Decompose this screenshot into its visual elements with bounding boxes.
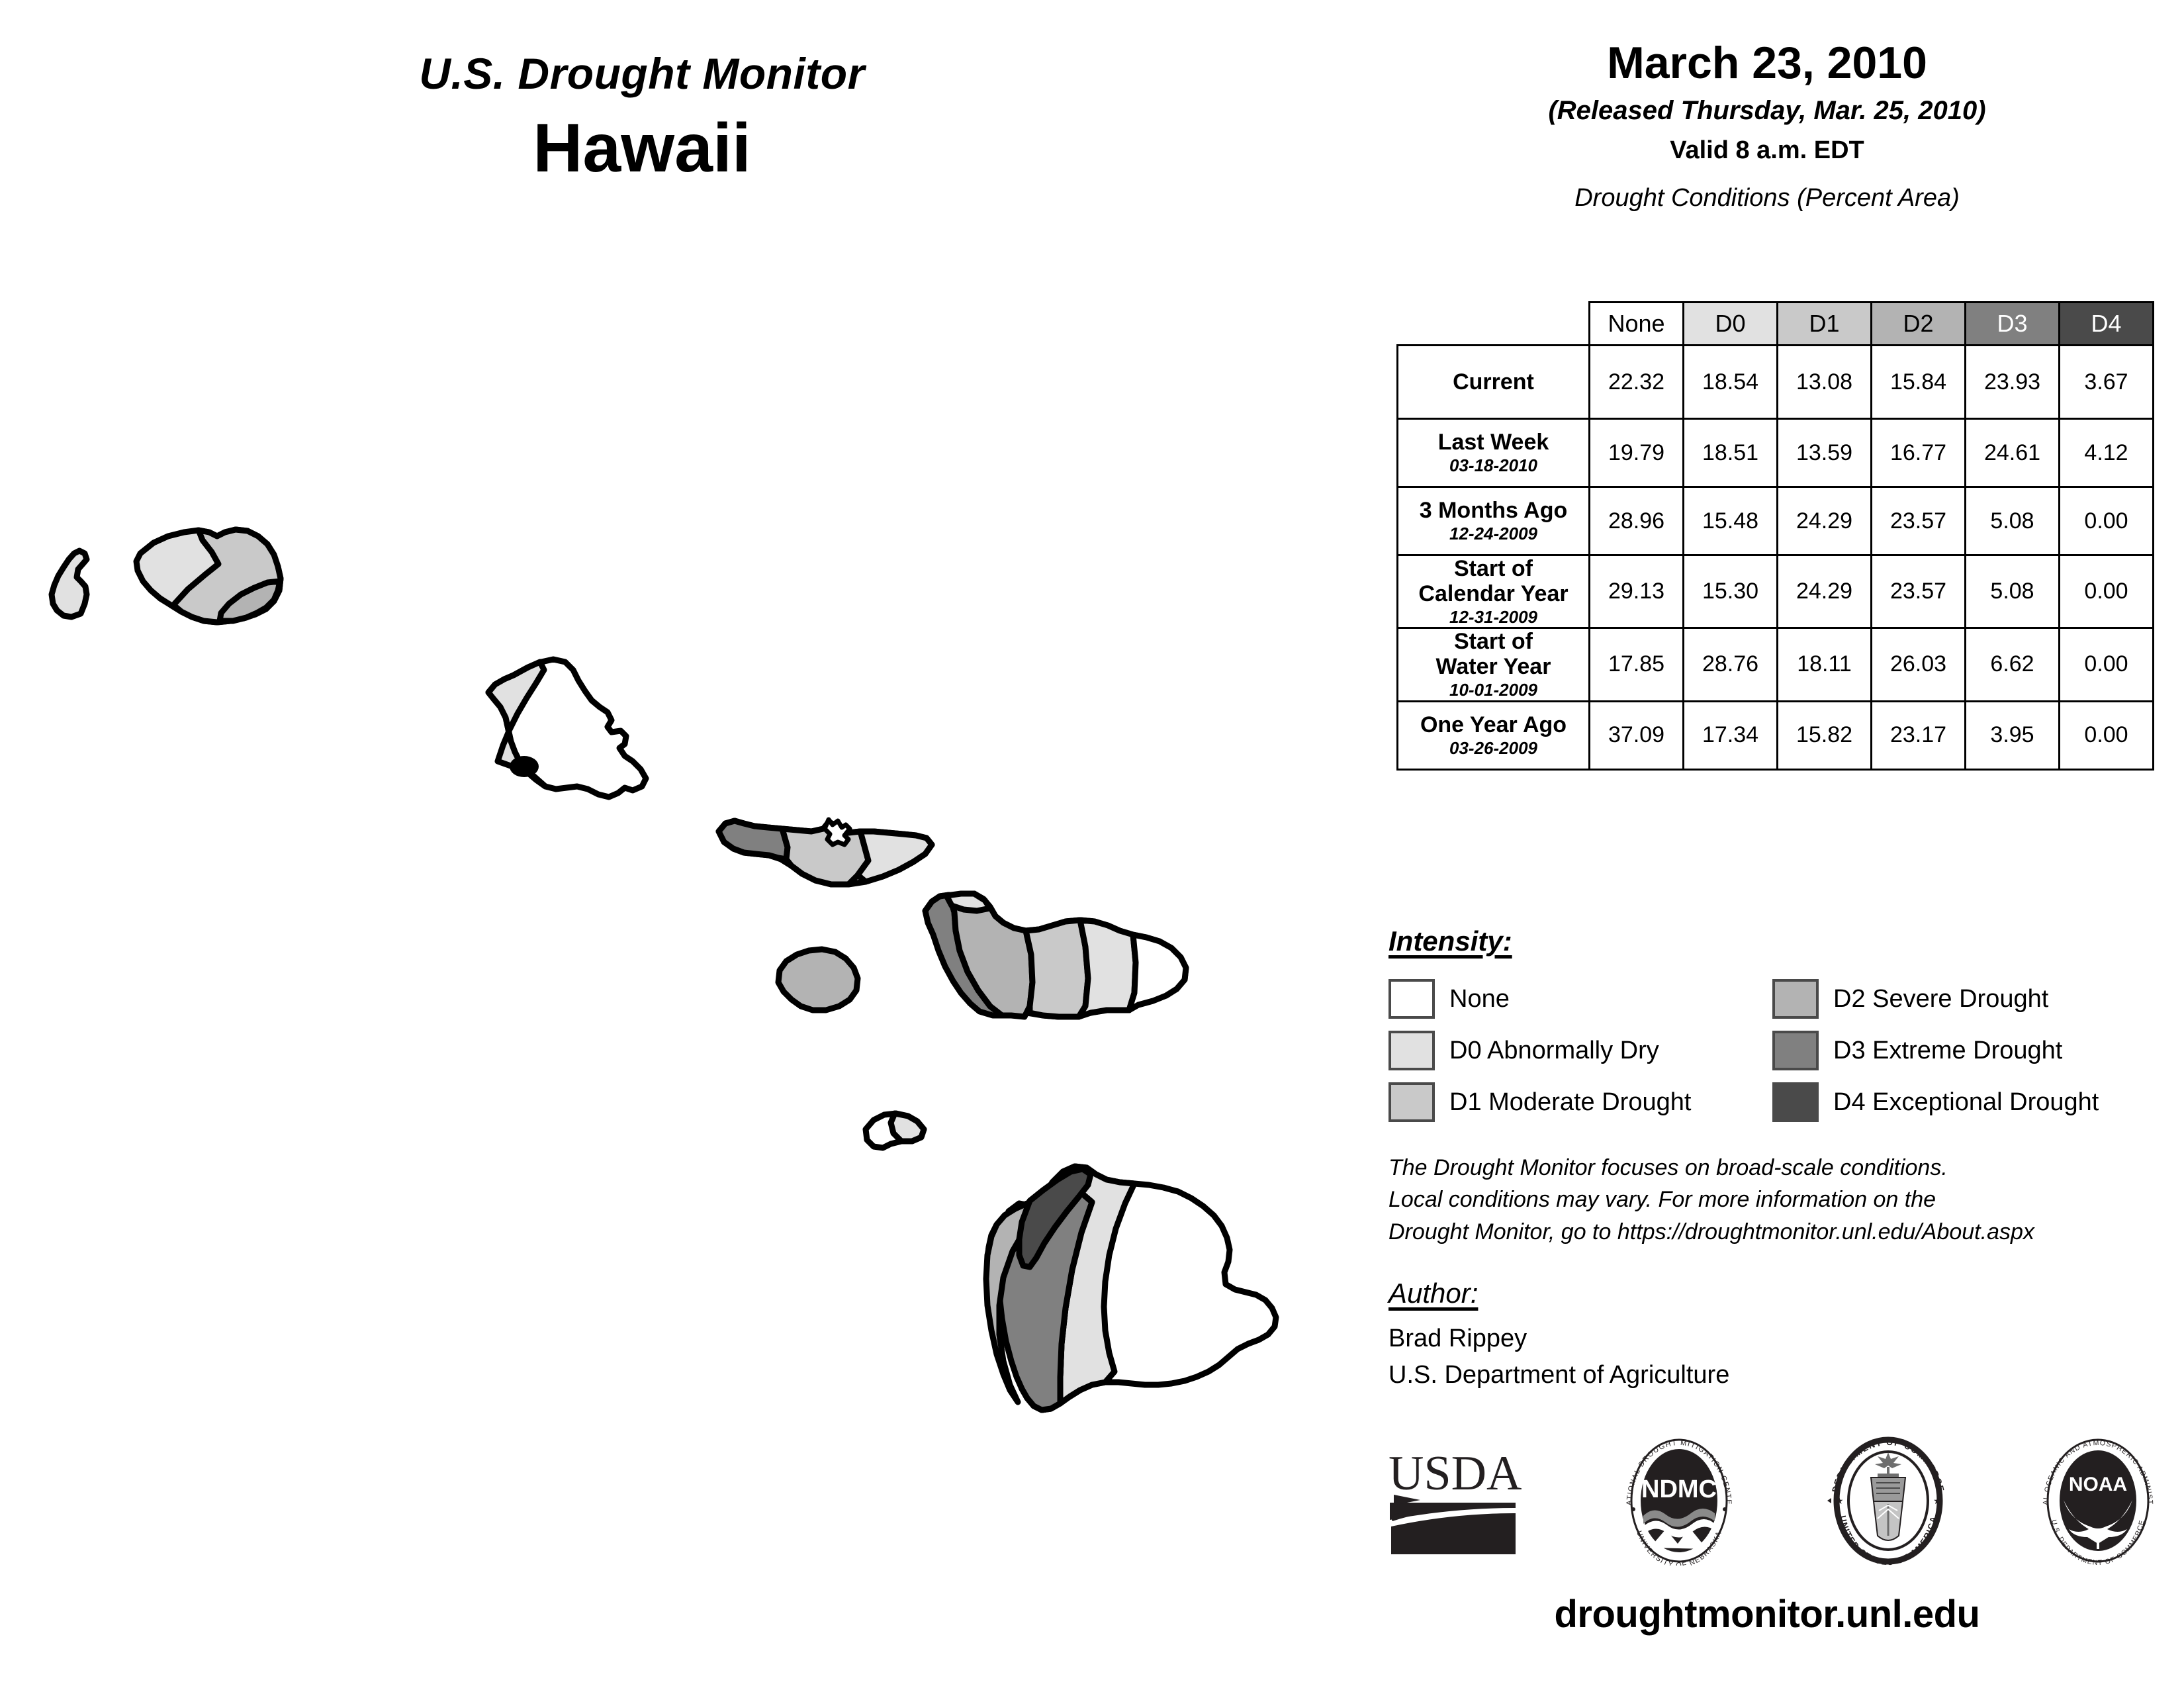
row-label-date: 03-26-2009 bbox=[1398, 739, 1588, 758]
cell-d1: 24.29 bbox=[1778, 555, 1872, 628]
island-hawaii bbox=[986, 1166, 1276, 1410]
row-label-name: 3 Months Ago bbox=[1398, 498, 1588, 523]
cell-d4: 3.67 bbox=[2060, 346, 2154, 419]
col-header-none: None bbox=[1590, 303, 1684, 346]
cell-d0: 28.76 bbox=[1684, 628, 1778, 701]
legend-label: D4 Exceptional Drought bbox=[1833, 1088, 2099, 1117]
row-label-date: 12-24-2009 bbox=[1398, 524, 1588, 543]
author-agency: U.S. Department of Agriculture bbox=[1388, 1357, 1729, 1393]
cell-d3: 6.62 bbox=[1966, 628, 2060, 701]
row-label-name2: Water Year bbox=[1398, 654, 1588, 679]
cell-d3: 23.93 bbox=[1966, 346, 2060, 419]
swatch-d3-icon bbox=[1772, 1031, 1819, 1070]
table-row: Start of Calendar Year 12-31-2009 29.13 … bbox=[1398, 555, 2154, 628]
legend-item-d1: D1 Moderate Drought bbox=[1388, 1076, 1772, 1128]
swatch-d1-icon bbox=[1388, 1082, 1435, 1122]
island-oahu bbox=[488, 659, 646, 797]
kahoolawe-d0 bbox=[891, 1113, 924, 1141]
niihau-outline bbox=[52, 551, 87, 617]
maui-d0 bbox=[1079, 920, 1136, 1017]
cell-d1: 13.08 bbox=[1778, 346, 1872, 419]
row-label-date: 10-01-2009 bbox=[1398, 680, 1588, 700]
molokai-d3 bbox=[719, 821, 788, 859]
row-label-name: Start of bbox=[1398, 629, 1588, 654]
author-block: Brad Rippey U.S. Department of Agricultu… bbox=[1388, 1321, 1729, 1393]
cell-d4: 4.12 bbox=[2060, 419, 2154, 487]
oahu-marker bbox=[510, 756, 539, 777]
table-caption: Drought Conditions (Percent Area) bbox=[1377, 185, 2158, 212]
cell-d3: 3.95 bbox=[1966, 701, 2060, 769]
row-label-name: One Year Ago bbox=[1398, 712, 1588, 737]
site-url: droughtmonitor.unl.edu bbox=[1377, 1592, 2158, 1636]
table-row: 3 Months Ago 12-24-2009 28.96 15.48 24.2… bbox=[1398, 487, 2154, 555]
table-header-row: None D0 D1 D2 D3 D4 bbox=[1398, 303, 2154, 346]
logo-row: USDA NATIONAL DROUGHT MITIGATION CENTER … bbox=[1383, 1433, 2164, 1572]
maui-upcountry-d0 bbox=[946, 894, 990, 911]
intensity-legend: None D2 Severe Drought D0 Abnormally Dry… bbox=[1388, 973, 2156, 1128]
legend-label: None bbox=[1449, 985, 1510, 1013]
cell-d0: 18.51 bbox=[1684, 419, 1778, 487]
cell-d4: 0.00 bbox=[2060, 555, 2154, 628]
cell-d1: 13.59 bbox=[1778, 419, 1872, 487]
row-label-name: Current bbox=[1398, 369, 1588, 395]
disclaimer-line-1: The Drought Monitor focuses on broad-sca… bbox=[1388, 1152, 2169, 1184]
island-molokai bbox=[719, 820, 932, 884]
table-row: Start of Water Year 10-01-2009 17.85 28.… bbox=[1398, 628, 2154, 701]
cell-d0: 17.34 bbox=[1684, 701, 1778, 769]
row-label-one-year-ago: One Year Ago 03-26-2009 bbox=[1398, 701, 1590, 769]
island-lanai bbox=[778, 949, 858, 1010]
row-label-name2: Calendar Year bbox=[1398, 581, 1588, 606]
hawaii-drought-map bbox=[0, 463, 1363, 1456]
cell-none: 37.09 bbox=[1590, 701, 1684, 769]
maui-none bbox=[1129, 935, 1186, 1010]
col-header-d1: D1 bbox=[1778, 303, 1872, 346]
valid-time: Valid 8 a.m. EDT bbox=[1377, 137, 2158, 165]
cell-d2: 23.17 bbox=[1872, 701, 1966, 769]
svg-text:NOAA: NOAA bbox=[2069, 1474, 2127, 1495]
intensity-heading: Intensity: bbox=[1388, 925, 1512, 957]
maui-d1 bbox=[1026, 920, 1088, 1017]
table-row: One Year Ago 03-26-2009 37.09 17.34 15.8… bbox=[1398, 701, 2154, 769]
cell-d1: 24.29 bbox=[1778, 487, 1872, 555]
row-label-start-of-water-year: Start of Water Year 10-01-2009 bbox=[1398, 628, 1590, 701]
molokai-d0 bbox=[858, 831, 932, 882]
disclaimer-line-2: Local conditions may vary. For more info… bbox=[1388, 1184, 2169, 1215]
row-label-last-week: Last Week 03-18-2010 bbox=[1398, 419, 1590, 487]
island-kahoolawe bbox=[866, 1113, 924, 1148]
ndmc-logo: NATIONAL DROUGHT MITIGATION CENTER UNIVE… bbox=[1613, 1436, 1745, 1569]
svg-text:★: ★ bbox=[1933, 1495, 1942, 1506]
cell-d4: 0.00 bbox=[2060, 701, 2154, 769]
cell-d4: 0.00 bbox=[2060, 487, 2154, 555]
row-label-current: Current bbox=[1398, 346, 1590, 419]
svg-text:NDMC: NDMC bbox=[1641, 1476, 1717, 1503]
cell-d4: 0.00 bbox=[2060, 628, 2154, 701]
col-header-d4: D4 bbox=[2060, 303, 2154, 346]
cell-none: 22.32 bbox=[1590, 346, 1684, 419]
island-maui bbox=[925, 894, 1186, 1017]
cell-d3: 5.08 bbox=[1966, 487, 2060, 555]
row-label-3-months-ago: 3 Months Ago 12-24-2009 bbox=[1398, 487, 1590, 555]
cell-d2: 15.84 bbox=[1872, 346, 1966, 419]
legend-label: D2 Severe Drought bbox=[1833, 985, 2048, 1013]
island-niihau bbox=[52, 551, 87, 617]
swatch-d4-icon bbox=[1772, 1082, 1819, 1122]
cell-none: 28.96 bbox=[1590, 487, 1684, 555]
row-label-name: Start of bbox=[1398, 556, 1588, 581]
program-title: U.S. Drought Monitor bbox=[278, 52, 1006, 95]
cell-d0: 15.30 bbox=[1684, 555, 1778, 628]
report-header: March 23, 2010 (Released Thursday, Mar. … bbox=[1377, 40, 2158, 212]
usda-logo: USDA bbox=[1383, 1442, 1535, 1564]
legend-item-d0: D0 Abnormally Dry bbox=[1388, 1025, 1772, 1076]
table-row: Current 22.32 18.54 13.08 15.84 23.93 3.… bbox=[1398, 346, 2154, 419]
col-header-d3: D3 bbox=[1966, 303, 2060, 346]
swatch-d2-icon bbox=[1772, 979, 1819, 1019]
molokai-kalaupapa bbox=[825, 820, 850, 845]
row-label-date: 12-31-2009 bbox=[1398, 608, 1588, 627]
swatch-d0-icon bbox=[1388, 1031, 1435, 1070]
cell-none: 29.13 bbox=[1590, 555, 1684, 628]
maui-d2 bbox=[949, 894, 1032, 1017]
cell-d1: 15.82 bbox=[1778, 701, 1872, 769]
disclaimer-line-3: Drought Monitor, go to https://droughtmo… bbox=[1388, 1216, 2169, 1248]
col-header-d0: D0 bbox=[1684, 303, 1778, 346]
author-name: Brad Rippey bbox=[1388, 1321, 1729, 1357]
row-label-date: 03-18-2010 bbox=[1398, 456, 1588, 475]
cell-d2: 26.03 bbox=[1872, 628, 1966, 701]
legend-item-d3: D3 Extreme Drought bbox=[1772, 1025, 2156, 1076]
table-row: Last Week 03-18-2010 19.79 18.51 13.59 1… bbox=[1398, 419, 2154, 487]
svg-text:USDA: USDA bbox=[1388, 1446, 1522, 1501]
region-title: Hawaii bbox=[278, 113, 1006, 185]
island-kauai bbox=[136, 530, 281, 622]
legend-label: D3 Extreme Drought bbox=[1833, 1037, 2062, 1065]
svg-text:★: ★ bbox=[1835, 1495, 1844, 1506]
cell-d2: 23.57 bbox=[1872, 487, 1966, 555]
cell-d2: 23.57 bbox=[1872, 555, 1966, 628]
lanai-outline bbox=[778, 949, 858, 1010]
cell-none: 17.85 bbox=[1590, 628, 1684, 701]
legend-item-none: None bbox=[1388, 973, 1772, 1025]
release-date: (Released Thursday, Mar. 25, 2010) bbox=[1377, 96, 2158, 125]
issue-date: March 23, 2010 bbox=[1377, 40, 2158, 87]
cell-none: 19.79 bbox=[1590, 419, 1684, 487]
doc-logo: DEPARTMENT OF COMMERCE UNITED STATES OF … bbox=[1822, 1436, 1954, 1569]
noaa-logo: NATIONAL OCEANIC AND ATMOSPHERIC ADMINIS… bbox=[2032, 1436, 2164, 1569]
table-corner-cell bbox=[1398, 303, 1590, 346]
legend-label: D1 Moderate Drought bbox=[1449, 1088, 1691, 1117]
cell-d1: 18.11 bbox=[1778, 628, 1872, 701]
legend-item-d4: D4 Exceptional Drought bbox=[1772, 1076, 2156, 1128]
author-heading: Author: bbox=[1388, 1278, 1478, 1309]
row-label-name: Last Week bbox=[1398, 430, 1588, 455]
cell-d0: 18.54 bbox=[1684, 346, 1778, 419]
col-header-d2: D2 bbox=[1872, 303, 1966, 346]
disclaimer: The Drought Monitor focuses on broad-sca… bbox=[1388, 1152, 2169, 1248]
cell-d2: 16.77 bbox=[1872, 419, 1966, 487]
legend-item-d2: D2 Severe Drought bbox=[1772, 973, 2156, 1025]
legend-label: D0 Abnormally Dry bbox=[1449, 1037, 1659, 1065]
cell-d3: 24.61 bbox=[1966, 419, 2060, 487]
drought-conditions-table: None D0 D1 D2 D3 D4 Current 22.32 18.54 … bbox=[1396, 301, 2154, 771]
swatch-none-icon bbox=[1388, 979, 1435, 1019]
cell-d3: 5.08 bbox=[1966, 555, 2060, 628]
row-label-start-of-calendar-year: Start of Calendar Year 12-31-2009 bbox=[1398, 555, 1590, 628]
cell-d0: 15.48 bbox=[1684, 487, 1778, 555]
title-block: U.S. Drought Monitor Hawaii bbox=[278, 52, 1006, 185]
